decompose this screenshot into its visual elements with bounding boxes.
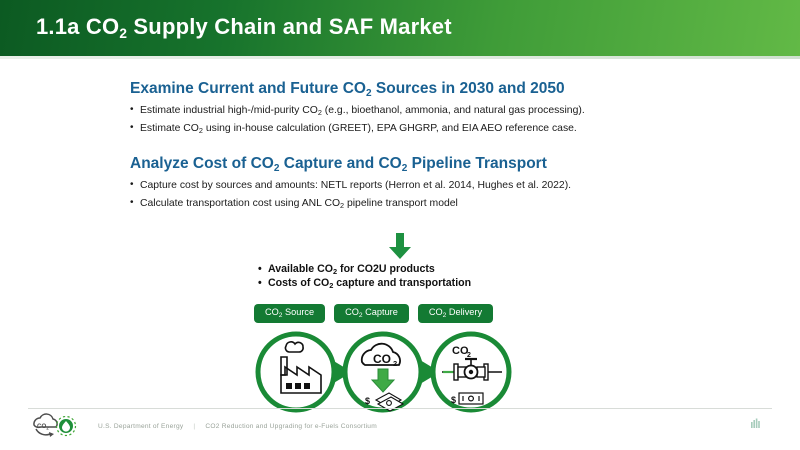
bullet-dot-icon: • [130, 179, 140, 192]
stage-circle-capture: CO 2 $ [345, 334, 421, 411]
chip-co2-capture: CO2 Capture [334, 304, 409, 323]
supply-chain-diagram: CO 2 $ CO 2 [252, 330, 528, 414]
list-item: • Available CO2 for CO2U products [258, 262, 471, 276]
section-heading-co2-sources: Examine Current and Future CO2 Sources i… [130, 80, 730, 98]
footer-text: U.S. Department of Energy | CO2 Reductio… [98, 423, 377, 430]
corner-watermark-icon [748, 417, 764, 431]
footer-separator: | [193, 423, 195, 430]
bullet-item: • Estimate industrial high-/mid-purity C… [130, 104, 730, 117]
footer-org: U.S. Department of Energy [98, 423, 183, 430]
list-item: • Costs of CO2 capture and transportatio… [258, 276, 471, 290]
bullet-item: • Capture cost by sources and amounts: N… [130, 179, 730, 192]
consortium-logo-icon: CO 2 [28, 412, 84, 440]
footer: CO 2 U.S. Department of Energy | CO2 Red… [28, 412, 377, 440]
stage-circle-delivery: CO 2 $ [433, 334, 509, 410]
section-capture-cost: Analyze Cost of CO2 Capture and CO2 Pipe… [130, 155, 730, 215]
outcomes-list: • Available CO2 for CO2U products • Cost… [258, 262, 471, 291]
bullet-dot-icon: • [130, 197, 140, 210]
bullet-dot-icon: • [130, 104, 140, 117]
stage-chip-group: CO2 Source CO2 Capture CO2 Delivery [254, 304, 493, 323]
bullet-item: • Estimate CO2 using in-house calculatio… [130, 122, 730, 135]
svg-text:2: 2 [393, 359, 397, 368]
svg-text:CO: CO [37, 423, 46, 430]
bullet-dot-icon: • [130, 122, 140, 135]
svg-text:$: $ [365, 396, 370, 406]
down-arrow-icon [388, 233, 412, 259]
bullet-item: • Calculate transportation cost using AN… [130, 197, 730, 210]
page-title: 1.1a CO2 Supply Chain and SAF Market [36, 14, 452, 40]
chip-co2-delivery: CO2 Delivery [418, 304, 493, 323]
header-divider [0, 56, 800, 59]
section-co2-sources: Examine Current and Future CO2 Sources i… [130, 80, 730, 140]
svg-text:CO: CO [373, 352, 391, 366]
footer-program: CO2 Reduction and Upgrading for e-Fuels … [205, 423, 377, 430]
bullet-dot-icon: • [258, 262, 268, 276]
footer-divider [28, 408, 772, 409]
stage-circle-source [258, 334, 334, 410]
chip-co2-source: CO2 Source [254, 304, 325, 323]
svg-text:$: $ [451, 395, 456, 405]
bullet-dot-icon: • [258, 276, 268, 290]
page-title-subscript: 2 [119, 26, 127, 41]
section-heading-capture-cost: Analyze Cost of CO2 Capture and CO2 Pipe… [130, 155, 730, 173]
